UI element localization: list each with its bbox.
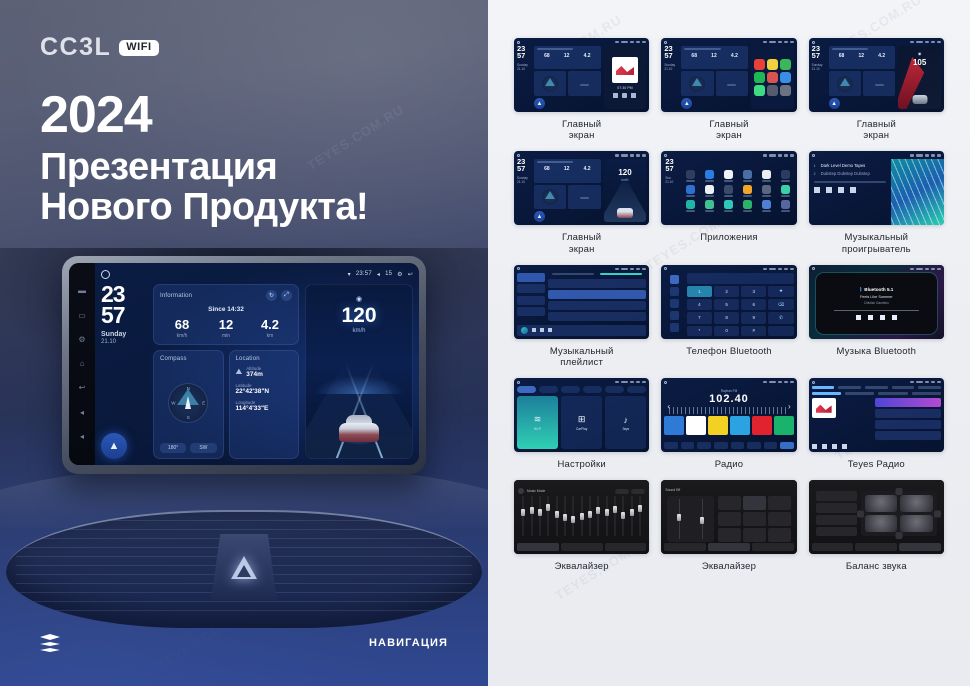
clock-minutes: 57 — [101, 305, 147, 326]
dial-key: 8 — [714, 312, 739, 323]
station-presets[interactable] — [661, 414, 796, 435]
mini-app-shortcuts — [751, 46, 794, 109]
dial-key: 0 — [714, 326, 739, 336]
dial-key: 3 — [741, 286, 766, 297]
compass-card[interactable]: Compass N S W E — [153, 350, 224, 459]
compass-dial: N S W E — [168, 383, 208, 423]
page-title: 2024 Презентация Нового Продукта! — [40, 88, 368, 227]
speed-unit: km/h — [306, 328, 412, 334]
mini-nav-fab[interactable]: ▲ — [534, 211, 545, 222]
mini-status-bar — [809, 265, 944, 273]
hero-footer: НАВИГАЦИЯ — [40, 634, 448, 652]
mini-status-bar — [809, 378, 944, 386]
mini-status-bar — [661, 38, 796, 46]
prev-icon — [812, 444, 817, 449]
grid-cell[interactable]: Sound Eff — [661, 480, 796, 572]
equalizer-tabs[interactable] — [517, 543, 646, 551]
stat-item: 4.2 km — [248, 318, 292, 339]
balance-up-button[interactable] — [895, 488, 902, 495]
hero-year: 2024 — [40, 88, 368, 142]
stat-value: 4.2 — [248, 318, 292, 331]
mini-status-bar — [661, 265, 796, 273]
dial-key: 4 — [687, 299, 712, 310]
speaker-rear-right — [900, 515, 933, 532]
home-icon[interactable]: ⌂ — [80, 360, 85, 368]
status-time: 23:57 — [356, 271, 372, 277]
carplay-icon: ⊞ — [578, 414, 586, 425]
balance-left-button[interactable] — [857, 510, 864, 517]
widget-column: Information ↻ ⤢ Since 14:32 68 — [153, 284, 299, 459]
clock-day: Sunday — [101, 331, 147, 338]
visualizer — [891, 159, 944, 225]
teyes-subtabs[interactable] — [812, 392, 941, 395]
navigation-fab-button[interactable]: ▲ — [101, 433, 127, 459]
dial-key: 2 — [714, 286, 739, 297]
wifi-icon: ≋ — [534, 414, 542, 425]
player-track-artist: Dubstep Dubstep Dubstep — [821, 171, 870, 176]
grid-cell[interactable]: Music Mode — [514, 480, 649, 572]
dial-key: 5 — [714, 299, 739, 310]
grid-cell[interactable]: 2357Sunday21.10 68124.2 ▲ ◉ 105 — [809, 38, 944, 141]
speed-value: 120 — [306, 305, 412, 326]
radio-toolbar[interactable] — [661, 442, 796, 452]
compass-e: E — [202, 400, 205, 405]
mini-media-widget: 07:30 PM — [604, 46, 647, 109]
longitude-value: 114°4'33"E — [236, 405, 293, 412]
stat-unit: km/h — [160, 333, 204, 339]
bt-track-artist: Childish Gambino — [864, 301, 889, 305]
home-circle-icon[interactable] — [101, 270, 110, 279]
mini-status-bar — [514, 378, 649, 386]
thumbnail-radio[interactable]: Rayban FM 102.40 ‹› — [661, 378, 796, 452]
sound-tile[interactable]: ♪ Звук — [605, 396, 646, 449]
tune-prev-icon: ‹ — [667, 402, 670, 411]
search-icon — [670, 299, 679, 308]
thumbnail-label: Настройки — [557, 459, 605, 470]
thumbnail-home-drive[interactable]: 2357Sunday21.10 68124.2 ▲ 120 km/h — [514, 151, 649, 225]
mini-speed-value: 120 — [604, 168, 647, 177]
grid-cell[interactable]: ≋ Wi-Fi ⊞ CarPlay ♪ Звук — [514, 378, 649, 470]
tile-label: Wi-Fi — [534, 427, 541, 431]
balance-pad[interactable] — [861, 491, 937, 536]
thumbnail-label: Телефон Bluetooth — [686, 346, 772, 357]
back-arrow-icon[interactable]: ↩ — [408, 271, 413, 278]
transport-controls[interactable] — [814, 187, 886, 193]
brand-name: CC3L — [40, 33, 111, 62]
thumbnail-label: Главныйэкран — [857, 119, 896, 141]
mountain-icon: ⛰ — [236, 367, 243, 377]
car-3d-model — [339, 412, 379, 442]
progress-bar[interactable] — [834, 310, 919, 311]
stop-icon — [880, 315, 885, 320]
power-icon[interactable]: ▭ — [78, 312, 86, 320]
thumbnail-label: Радио — [715, 459, 743, 470]
bluetooth-icon: ᛒ — [859, 287, 862, 293]
thumbnail-label: Музыкальныйпроигрыватель — [842, 232, 911, 254]
volume-icon[interactable]: ◂ — [377, 271, 380, 278]
balance-down-button[interactable] — [895, 532, 902, 539]
wifi-icon: ▾ — [348, 271, 351, 278]
mini-status-bar — [809, 38, 944, 46]
thumbnail-label: Музыка Bluetooth — [837, 346, 917, 357]
mini-clock: 2357Sun21.10 — [665, 159, 679, 222]
thumbnail-teyes-radio[interactable] — [809, 378, 944, 452]
pause-icon — [838, 187, 844, 193]
player-track-title: Dark Level Demo Tapes — [821, 163, 866, 168]
prev-icon — [814, 187, 820, 193]
location-card[interactable]: Location ⛰ Altitude 374m — [229, 350, 300, 459]
dial-key: 6 — [741, 299, 766, 310]
latitude-value: 22°42'38"N — [236, 388, 293, 395]
hero-title-line2: Нового Продукта! — [40, 188, 368, 228]
calls-icon — [670, 311, 679, 320]
mini-speed-unit: km/h — [604, 178, 647, 182]
clock-column: 23 57 Sunday 21.10 ▲ — [101, 284, 147, 459]
brand-wifi-badge: WIFI — [119, 40, 158, 56]
hazard-light-button[interactable] — [211, 534, 277, 600]
thumbnail-label: Главныйэкран — [562, 119, 601, 141]
mini-nav-fab[interactable]: ▲ — [681, 98, 692, 109]
balance-presets[interactable] — [816, 491, 857, 536]
speaker-front-right — [900, 495, 933, 512]
next-icon — [832, 444, 837, 449]
eq-preset-grid[interactable] — [718, 496, 790, 542]
hero-title-line1: Презентация — [40, 148, 368, 188]
app-grid[interactable] — [683, 159, 792, 222]
mini-nav-fab[interactable]: ▲ — [829, 98, 840, 109]
head-unit-screen-frame: ▬ ▭ ⚙ ⌂ ↩ ◂ ◂ ▾ 23:57 ◂ 15 — [69, 263, 419, 465]
next-icon — [548, 328, 552, 332]
eq-preset-label: Music Mode — [527, 489, 545, 493]
equalizer-tabs[interactable] — [664, 543, 793, 551]
menu-icon[interactable]: ▬ — [78, 287, 86, 295]
thumbnail-label: Эквалайзер — [702, 561, 756, 572]
tune-next-icon: › — [788, 402, 791, 411]
mini-status-bar — [661, 378, 796, 386]
grid-cell[interactable]: Teyes Радио — [809, 378, 944, 470]
gear-icon[interactable]: ⚙ — [397, 271, 403, 278]
speed-icon: ◉ — [356, 295, 362, 303]
playlist-now-playing-bar[interactable] — [517, 325, 646, 336]
refresh-icon[interactable]: ↻ — [266, 290, 277, 301]
stop-icon — [822, 444, 827, 449]
since-label: Since 14:32 — [160, 306, 292, 313]
thumbnail-music-playlist[interactable] — [514, 265, 649, 339]
thumbnail-music-player[interactable]: 1Dark Level Demo Tapes 2Dubstep Dubstep … — [809, 151, 944, 225]
layers-icon — [40, 634, 60, 652]
volume-up-icon[interactable]: ◂ — [80, 433, 84, 441]
grid-cell[interactable]: 2357Sunday21.10 68124.2 ▲ 07:30 PM — [514, 38, 649, 141]
play-pause-icon — [868, 315, 873, 320]
grid-cell[interactable]: 2357Sunday21.10 68124.2 ▲ — [661, 38, 796, 141]
driving-view-card[interactable]: ◉ 120 km/h — [305, 284, 413, 459]
thumbnail-label: Эквалайзер — [555, 561, 609, 572]
compass-heading: 180° — [160, 443, 186, 453]
information-card[interactable]: Information ↻ ⤢ Since 14:32 68 — [153, 284, 299, 345]
thumbnail-label: Главныйэкран — [709, 119, 748, 141]
dial-key: * — [687, 326, 712, 336]
transport-controls[interactable] — [856, 315, 897, 320]
back-icon[interactable]: ↩ — [79, 384, 86, 392]
grid-cell[interactable]: Баланс звука — [809, 480, 944, 572]
mini-sport-speed-widget: ◉ 105 — [898, 46, 941, 109]
eq-preset-label: Sound Eff — [665, 488, 680, 492]
location-title: Location — [236, 356, 293, 362]
thumbnail-bluetooth-music[interactable]: ᛒBluetooth 5.1 Feels Like Summer Childis… — [809, 265, 944, 339]
bt-track-title: Feels Like Summer — [860, 295, 893, 299]
mini-clock: 2357Sunday21.10 — [812, 46, 826, 109]
stat-unit: km — [248, 333, 292, 339]
thumbnail-label: Музыкальныйплейлист — [550, 346, 614, 368]
dial-key: # — [741, 326, 766, 336]
expand-icon[interactable]: ⤢ — [281, 290, 292, 301]
information-title: Information — [160, 293, 192, 299]
grid-cell[interactable]: 1Dark Level Demo Tapes 2Dubstep Dubstep … — [809, 151, 944, 254]
stat-item: 68 km/h — [160, 318, 204, 339]
compass-n: N — [187, 386, 190, 391]
compass-direction: SW — [190, 443, 216, 453]
thumbnail-home-media[interactable]: 2357Sunday21.10 68124.2 ▲ 07:30 PM — [514, 38, 649, 112]
contacts-icon — [670, 287, 679, 296]
compass-w: W — [171, 400, 175, 405]
backspace-icon: ⌫ — [768, 299, 793, 310]
hero-panel: TEYES.COM.RU TEYES.COM.RU TEYES.COM.RU C… — [0, 0, 488, 686]
status-bar: ▾ 23:57 ◂ 15 ⚙ ↩ — [101, 268, 413, 280]
thumbnail-equalizer-bands[interactable]: Music Mode — [514, 480, 649, 554]
mini-status-bar — [809, 151, 944, 159]
play-icon — [826, 187, 832, 193]
mini-clock: 2357Sunday21.10 — [517, 46, 531, 109]
next-icon — [850, 187, 856, 193]
settings-icon — [670, 323, 679, 332]
mini-speed-value: 105 — [898, 58, 941, 67]
thumbnail-app-drawer[interactable]: 2357Sun21.10 — [661, 151, 796, 225]
mini-status-bar — [514, 265, 649, 273]
hazard-triangle-icon — [231, 556, 257, 579]
prev-icon — [532, 328, 536, 332]
screen-body: 23 57 Sunday 21.10 ▲ Information — [101, 280, 413, 459]
altitude-value: 374m — [246, 371, 263, 378]
dialpad-icon — [670, 275, 679, 284]
footer-section-label: НАВИГАЦИЯ — [369, 637, 448, 649]
mini-status-bar — [514, 38, 649, 46]
mini-status-bar — [661, 151, 796, 159]
car-dashboard-illustration: ▬ ▭ ⚙ ⌂ ↩ ◂ ◂ ▾ 23:57 ◂ 15 — [0, 248, 488, 686]
carplay-tile[interactable]: ⊞ CarPlay — [561, 396, 602, 449]
transport-controls[interactable] — [812, 444, 847, 449]
grid-cell[interactable]: 1 2 3 ★ 4 5 6 ⌫ 7 8 9 ✆ * — [661, 265, 796, 368]
settings-icon[interactable]: ⚙ — [78, 336, 85, 344]
thumbnail-home-apps[interactable]: 2357Sunday21.10 68124.2 ▲ — [661, 38, 796, 112]
sound-icon: ♪ — [624, 415, 629, 425]
compass-needle — [185, 396, 191, 409]
station-list[interactable] — [875, 398, 941, 449]
head-unit-display[interactable]: ▾ 23:57 ◂ 15 ⚙ ↩ 23 57 Sunday 21.10 — [95, 263, 419, 465]
dial-key: 7 — [687, 312, 712, 323]
phone-number-field[interactable] — [687, 273, 794, 284]
grid-cell[interactable]: Музыкальныйплейлист — [514, 265, 649, 368]
next-icon — [892, 315, 897, 320]
thumbnail-grid: 2357Sunday21.10 68124.2 ▲ 07:30 PM — [514, 38, 944, 666]
volume-down-icon[interactable]: ◂ — [80, 409, 84, 417]
mini-nav-fab[interactable]: ▲ — [534, 98, 545, 109]
teyes-tabs[interactable] — [812, 386, 941, 389]
eq-sliders[interactable] — [667, 496, 714, 542]
speaker-front-left — [865, 495, 898, 512]
thumbnail-equalizer-presets[interactable]: Sound Eff — [661, 480, 796, 554]
brand-logo: CC3L WIFI — [40, 33, 159, 62]
stat-item: 12 min — [204, 318, 248, 339]
wifi-tile[interactable]: ≋ Wi-Fi — [517, 396, 558, 449]
thumbnail-label: Приложения — [700, 232, 758, 243]
equalizer-tabs[interactable] — [812, 543, 941, 551]
trip-stats: 68 km/h 12 min 4.2 km — [160, 318, 292, 339]
album-art — [812, 398, 836, 418]
grid-cell[interactable]: ᛒBluetooth 5.1 Feels Like Summer Childis… — [809, 265, 944, 368]
mini-clock: 2357Sunday21.10 — [517, 159, 531, 222]
balance-right-button[interactable] — [934, 510, 941, 517]
call-icon: ✆ — [768, 312, 793, 323]
prev-icon — [856, 315, 861, 320]
progress-bar[interactable] — [814, 181, 886, 183]
mini-clock: 2357Sunday21.10 — [664, 46, 678, 109]
compass-s: S — [187, 415, 190, 420]
thumbnail-home-sport[interactable]: 2357Sunday21.10 68124.2 ▲ ◉ 105 — [809, 38, 944, 112]
volume-level: 15 — [385, 271, 392, 277]
mini-drive-widget: 120 km/h — [604, 159, 647, 222]
head-unit-side-rail[interactable]: ▬ ▭ ⚙ ⌂ ↩ ◂ ◂ — [69, 263, 95, 465]
thumbnail-label: Баланс звука — [846, 561, 907, 572]
bluetooth-version: Bluetooth 5.1 — [864, 287, 893, 292]
clock-date: 21.10 — [101, 339, 147, 345]
favorite-icon — [842, 444, 847, 449]
dial-key: 9 — [741, 312, 766, 323]
avatar — [521, 327, 528, 334]
thumbnail-bluetooth-phone[interactable]: 1 2 3 ★ 4 5 6 ⌫ 7 8 9 ✆ * — [661, 265, 796, 339]
equalizer-bands[interactable] — [518, 496, 645, 536]
thumbnail-sound-balance[interactable] — [809, 480, 944, 554]
tune-controls[interactable]: ‹› — [661, 402, 796, 411]
grid-cell[interactable]: Rayban FM 102.40 ‹› — [661, 378, 796, 470]
head-unit-bezel: ▬ ▭ ⚙ ⌂ ↩ ◂ ◂ ▾ 23:57 ◂ 15 — [62, 256, 426, 474]
settings-tabs[interactable] — [517, 386, 646, 393]
preset-icon — [518, 488, 524, 494]
favorite-icon: ★ — [768, 286, 793, 297]
speed-icon: ◉ — [918, 51, 922, 56]
dialpad[interactable]: 1 2 3 ★ 4 5 6 ⌫ 7 8 9 ✆ * — [687, 286, 794, 336]
speaker-rear-left — [865, 515, 898, 532]
thumbnail-label: Главныйэкран — [562, 232, 601, 254]
screenshot-grid-panel: TEYES.COM.RU TEYES.COM.RU TEYES.COM.RU T… — [488, 0, 970, 686]
stat-unit: min — [204, 333, 248, 339]
stat-value: 12 — [204, 318, 248, 331]
mini-status-bar — [514, 151, 649, 159]
thumbnail-settings[interactable]: ≋ Wi-Fi ⊞ CarPlay ♪ Звук — [514, 378, 649, 452]
dialer-sidebar[interactable] — [664, 273, 683, 336]
tile-label: CarPlay — [576, 427, 587, 431]
tile-label: Звук — [623, 427, 630, 431]
stat-value: 68 — [160, 318, 204, 331]
dial-key: 1 — [687, 286, 712, 297]
pause-icon — [540, 328, 544, 332]
grid-cell[interactable]: 2357Sun21.10 — [661, 151, 796, 254]
thumbnail-label: Teyes Радио — [848, 459, 905, 470]
grid-cell[interactable]: 2357Sunday21.10 68124.2 ▲ 120 km/h — [514, 151, 649, 254]
